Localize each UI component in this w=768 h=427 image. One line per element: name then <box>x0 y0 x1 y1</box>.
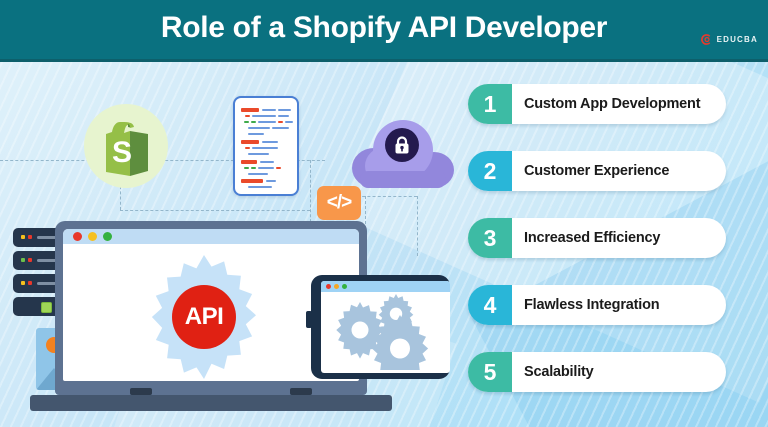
api-badge: API <box>172 285 236 349</box>
brand-logo: EDUCBA <box>700 33 758 46</box>
list-item-number: 3 <box>468 218 512 258</box>
window-dot-red <box>73 232 82 241</box>
window-dot-yellow <box>88 232 97 241</box>
connector-line <box>357 196 417 197</box>
laptop-base <box>30 395 392 411</box>
window-dot-green <box>342 284 347 289</box>
brand-name: EDUCBA <box>717 35 758 44</box>
list-item[interactable]: 1 Custom App Development <box>468 84 726 124</box>
laptop-foot <box>290 388 312 395</box>
window-dot-green <box>103 232 112 241</box>
list-item-number: 1 <box>468 84 512 124</box>
list-item-number: 5 <box>468 352 512 392</box>
padlock-icon <box>393 135 411 155</box>
header-bar: Role of a Shopify API Developer EDUCBA <box>0 0 768 62</box>
list-item-label: Customer Experience <box>512 163 669 179</box>
list-item-label: Increased Efficiency <box>512 230 660 246</box>
connector-line <box>417 196 418 256</box>
svg-text:S: S <box>112 136 132 169</box>
window-dot-red <box>326 284 331 289</box>
laptop-foot <box>130 388 152 395</box>
list-item-number: 4 <box>468 285 512 325</box>
list-item[interactable]: 4 Flawless Integration <box>468 285 726 325</box>
educba-logo-icon <box>700 33 713 46</box>
list-item-number: 2 <box>468 151 512 191</box>
list-item[interactable]: 5 Scalability <box>468 352 726 392</box>
list-item[interactable]: 3 Increased Efficiency <box>468 218 726 258</box>
code-document-icon <box>233 96 299 196</box>
connector-line <box>120 210 310 211</box>
tablet-titlebar <box>321 281 450 292</box>
feature-list: 1 Custom App Development 2 Customer Expe… <box>468 84 730 419</box>
window-dot-yellow <box>334 284 339 289</box>
browser-titlebar <box>63 229 359 244</box>
list-item-label: Scalability <box>512 364 594 380</box>
api-label: API <box>185 303 224 331</box>
page-title: Role of a Shopify API Developer <box>0 8 768 48</box>
code-tag-badge: </> <box>317 186 361 220</box>
list-item-label: Custom App Development <box>512 96 700 112</box>
infographic-canvas: Role of a Shopify API Developer EDUCBA S <box>0 0 768 427</box>
list-item[interactable]: 2 Customer Experience <box>468 151 726 191</box>
gears-icon <box>330 292 442 370</box>
list-item-label: Flawless Integration <box>512 297 659 313</box>
shopify-bag-icon: S <box>102 118 152 176</box>
